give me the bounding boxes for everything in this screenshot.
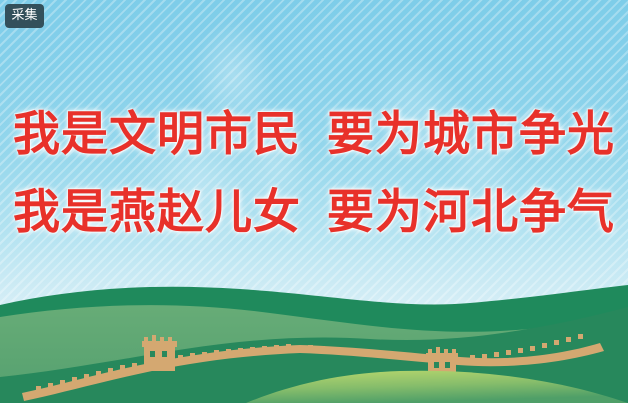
- capture-button[interactable]: 采集: [5, 4, 44, 28]
- landscape-illustration: [0, 273, 628, 403]
- banner-screenshot: 我是文明市民要为城市争光 我是燕赵儿女要为河北争气 采集: [0, 0, 628, 403]
